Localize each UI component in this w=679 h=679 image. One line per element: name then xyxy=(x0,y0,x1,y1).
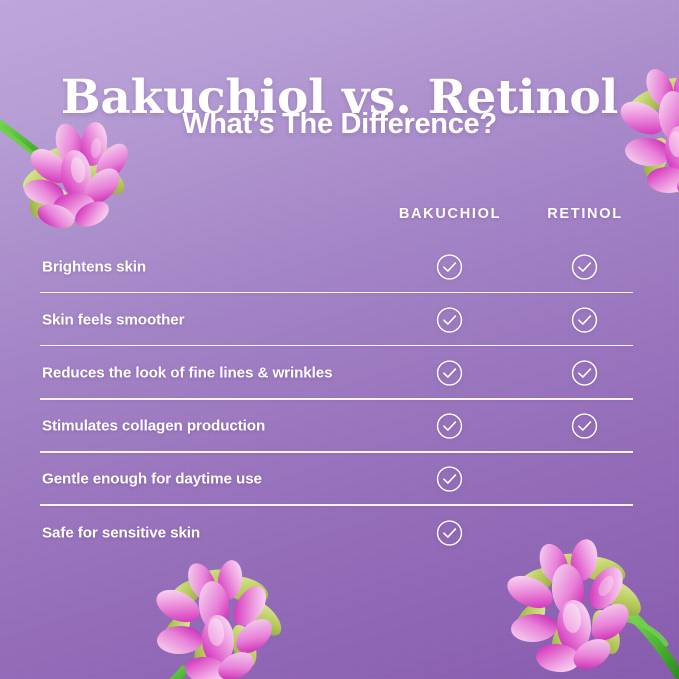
row-label: Stimulates collagen production xyxy=(42,418,265,435)
table-row-2: Reduces the look of fine lines & wrinkle… xyxy=(0,346,679,399)
check-bakuchiol-1 xyxy=(436,306,463,333)
table-row-1: Skin feels smoother xyxy=(0,293,679,346)
babchi-flower-bottom-left xyxy=(122,548,302,679)
check-bakuchiol-4 xyxy=(436,466,463,493)
check-bakuchiol-0 xyxy=(436,253,463,280)
row-label: Safe for sensitive skin xyxy=(42,524,200,541)
check-retinol-1 xyxy=(571,306,598,333)
check-retinol-0 xyxy=(571,253,598,280)
row-label: Skin feels smoother xyxy=(42,311,184,328)
check-bakuchiol-5 xyxy=(436,519,463,546)
page-subtitle: What’s The Difference? xyxy=(0,108,679,141)
column-header-retinol: RETINOL xyxy=(520,206,650,222)
table-row-0: Brightens skin xyxy=(0,240,679,293)
infographic-canvas: Bakuchiol vs. Retinol What’s The Differe… xyxy=(0,0,679,679)
check-bakuchiol-2 xyxy=(436,359,463,386)
table-row-3: Stimulates collagen production xyxy=(0,400,679,453)
table-row-4: Gentle enough for daytime use xyxy=(0,453,679,506)
check-retinol-2 xyxy=(571,359,598,386)
table-row-5: Safe for sensitive skin xyxy=(0,506,679,559)
row-label: Brightens skin xyxy=(42,258,146,275)
check-bakuchiol-3 xyxy=(436,413,463,440)
row-label: Gentle enough for daytime use xyxy=(42,471,262,488)
check-retinol-3 xyxy=(571,413,598,440)
comparison-table: Brightens skin Skin feels smoother xyxy=(0,240,679,559)
column-header-bakuchiol: BAKUCHIOL xyxy=(375,206,525,222)
row-label: Reduces the look of fine lines & wrinkle… xyxy=(42,364,332,381)
